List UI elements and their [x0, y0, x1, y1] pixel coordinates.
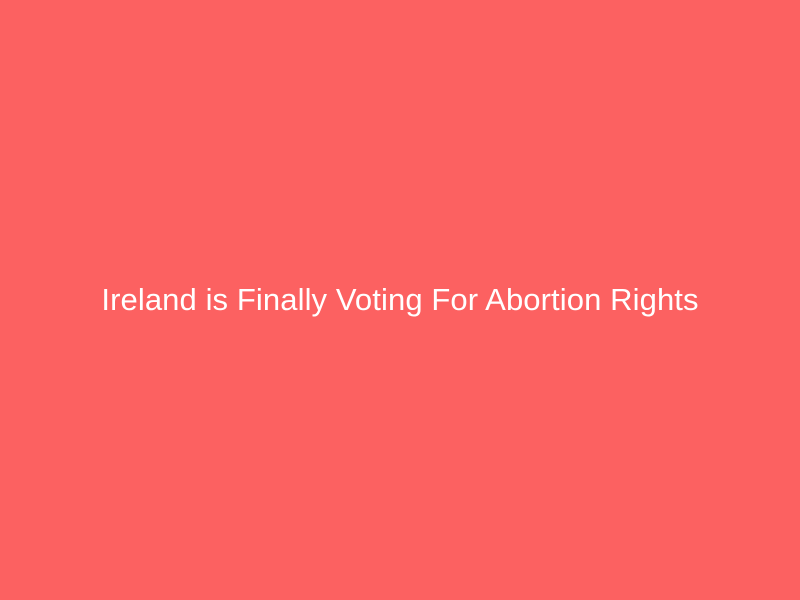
page-title: Ireland is Finally Voting For Abortion R…: [101, 281, 698, 320]
placeholder-card: Ireland is Finally Voting For Abortion R…: [0, 0, 800, 600]
